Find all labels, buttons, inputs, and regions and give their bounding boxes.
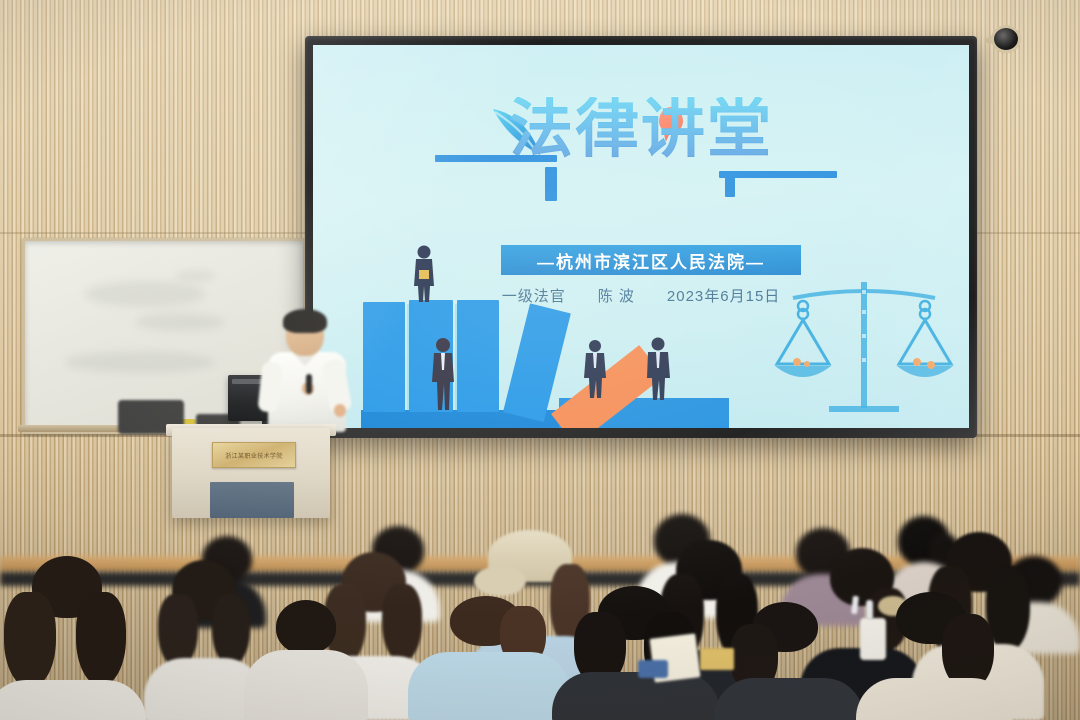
lecture-hall-screenshot: 法律讲堂 —杭州市滨江区人民法院— 一级法官陈 波2023年6月15日 [0, 0, 1080, 720]
photo-vignette [0, 0, 1080, 720]
